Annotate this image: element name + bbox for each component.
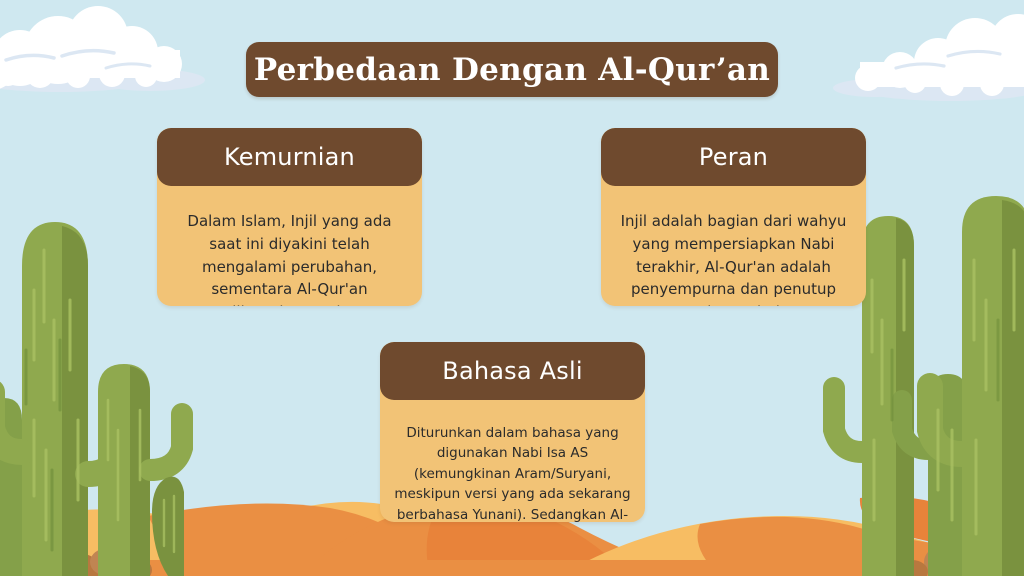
card-kemurnian: Kemurnian Dalam Islam, Injil yang ada sa…	[157, 128, 422, 306]
card-peran-body: Injil adalah bagian dari wahyu yang memp…	[601, 186, 866, 306]
cactus-left-tall	[0, 222, 122, 576]
card-bahasa-asli-heading: Bahasa Asli	[442, 357, 582, 385]
card-kemurnian-heading: Kemurnian	[224, 143, 355, 171]
cloud-top-right	[833, 14, 1024, 101]
page-title: Perbedaan Dengan Al-Qur’an	[254, 52, 770, 88]
cactus-left-small	[98, 364, 182, 576]
cloud-top-left	[0, 6, 205, 92]
card-peran-text: Injil adalah bagian dari wahyu yang memp…	[615, 210, 852, 306]
slide-canvas: Perbedaan Dengan Al-Qur’an Kemurnian Dal…	[0, 0, 1024, 576]
card-bahasa-asli-body: Diturunkan dalam bahasa yang digunakan N…	[380, 400, 645, 522]
card-bahasa-asli-text: Diturunkan dalam bahasa yang digunakan N…	[394, 423, 631, 523]
card-kemurnian-body: Dalam Islam, Injil yang ada saat ini diy…	[157, 186, 422, 306]
card-peran-heading: Peran	[699, 143, 768, 171]
rock-cluster-right	[896, 544, 1024, 576]
card-kemurnian-text: Dalam Islam, Injil yang ada saat ini diy…	[171, 210, 408, 306]
rock-cluster-left	[16, 546, 152, 576]
cactus-mid-left-arm	[152, 477, 184, 576]
card-bahasa-asli-header: Bahasa Asli	[380, 342, 645, 400]
card-kemurnian-header: Kemurnian	[157, 128, 422, 186]
card-bahasa-asli: Bahasa Asli Diturunkan dalam bahasa yang…	[380, 342, 645, 522]
card-peran: Peran Injil adalah bagian dari wahyu yan…	[601, 128, 866, 306]
slide-title-bar: Perbedaan Dengan Al-Qur’an	[246, 42, 778, 97]
card-peran-header: Peran	[601, 128, 866, 186]
